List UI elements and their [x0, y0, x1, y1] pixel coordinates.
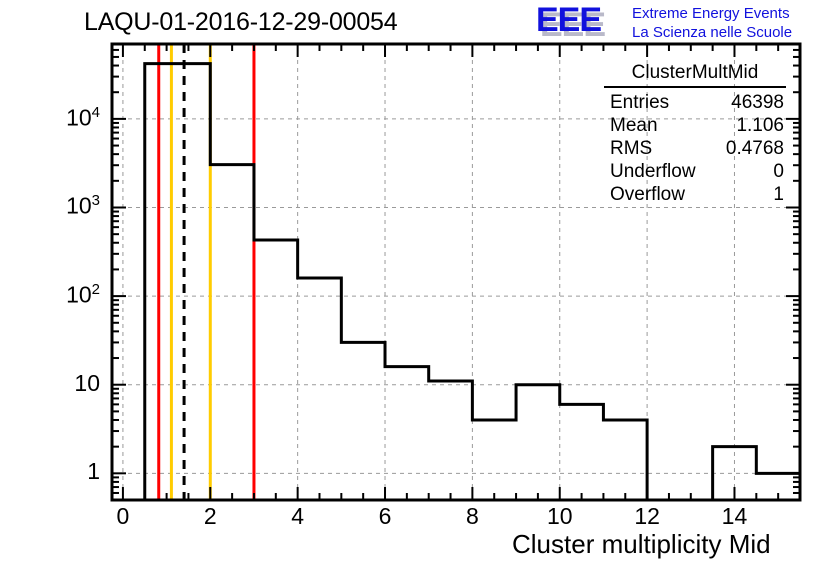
stats-row-value: 1.106	[736, 114, 784, 137]
x-tick-label: 6	[360, 503, 410, 530]
histogram-canvas: LAQU-01-2016-12-29-00054 EEE EEE Extreme…	[0, 0, 836, 572]
stats-row-label: Overflow	[610, 183, 685, 206]
stats-row-label: Mean	[610, 114, 658, 137]
stats-row-label: RMS	[610, 137, 652, 160]
y-tick-label: 102	[66, 281, 100, 309]
stats-box: ClusterMultMid Entries46398Mean1.106RMS0…	[600, 62, 790, 206]
stats-row-value: 46398	[731, 91, 784, 114]
y-tick-label: 103	[66, 192, 100, 220]
x-tick-label: 14	[709, 503, 759, 530]
stats-rows: Entries46398Mean1.106RMS0.4768Underflow0…	[600, 91, 790, 206]
x-axis-title: Cluster multiplicity Mid	[512, 529, 771, 560]
stats-row: Overflow1	[600, 183, 790, 206]
stats-row: Underflow0	[600, 160, 790, 183]
x-tick-label: 12	[622, 503, 672, 530]
x-tick-label: 2	[185, 503, 235, 530]
y-tick-label: 1	[87, 458, 100, 485]
x-tick-label: 4	[273, 503, 323, 530]
stats-box-title: ClusterMultMid	[604, 62, 786, 88]
x-tick-label: 0	[98, 503, 148, 530]
stats-row-label: Underflow	[610, 160, 696, 183]
x-tick-label: 10	[535, 503, 585, 530]
stats-row: Entries46398	[600, 91, 790, 114]
stats-row-label: Entries	[610, 91, 669, 114]
stats-row: Mean1.106	[600, 114, 790, 137]
vertical-marker-lines	[159, 44, 254, 500]
y-tick-label: 10	[74, 370, 100, 397]
stats-row-value: 1	[773, 183, 784, 206]
stats-row-value: 0.4768	[726, 137, 784, 160]
y-tick-label: 104	[66, 104, 100, 132]
stats-row: RMS0.4768	[600, 137, 790, 160]
stats-row-value: 0	[773, 160, 784, 183]
x-tick-label: 8	[447, 503, 497, 530]
